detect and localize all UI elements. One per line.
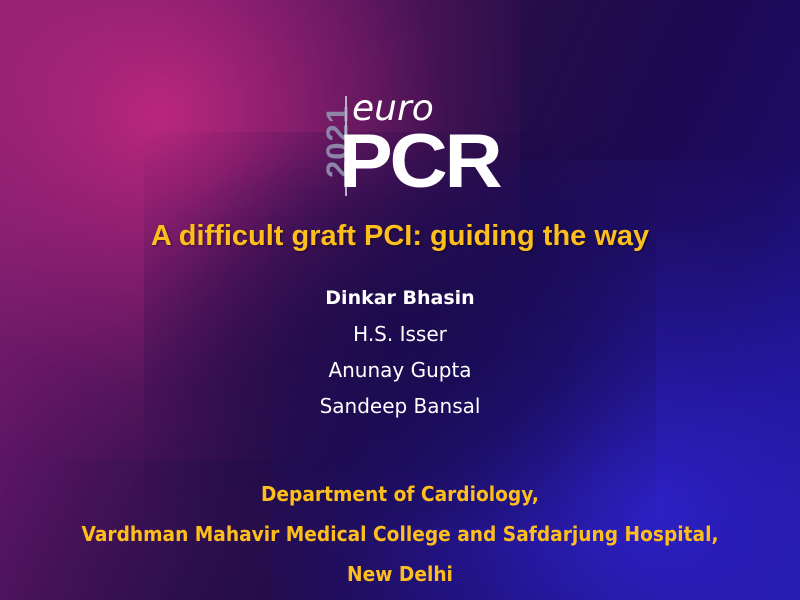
author-name-primary: Dinkar Bhasin [0, 289, 800, 308]
affiliation-institution: Vardhman Mahavir Medical College and Saf… [28, 524, 772, 544]
europcr-logo-inner: 2021 euro PCR [300, 88, 500, 200]
affiliation-block: Department of Cardiology, Vardhman Mahav… [0, 484, 800, 600]
author-name: Sandeep Bansal [0, 396, 800, 416]
author-name: Anunay Gupta [0, 360, 800, 380]
logo-pcr-wordmark: PCR [339, 124, 500, 200]
author-list: Dinkar Bhasin H.S. Isser Anunay Gupta Sa… [0, 289, 800, 432]
europcr-logo: 2021 euro PCR [0, 88, 800, 200]
presentation-title-slide: 2021 euro PCR A difficult graft PCI: gui… [0, 0, 800, 600]
affiliation-city: New Delhi [28, 564, 772, 584]
author-name: H.S. Isser [0, 324, 800, 344]
slide-title: A difficult graft PCI: guiding the way [0, 219, 800, 254]
affiliation-department: Department of Cardiology, [28, 484, 772, 504]
slide-content: 2021 euro PCR A difficult graft PCI: gui… [0, 0, 800, 600]
